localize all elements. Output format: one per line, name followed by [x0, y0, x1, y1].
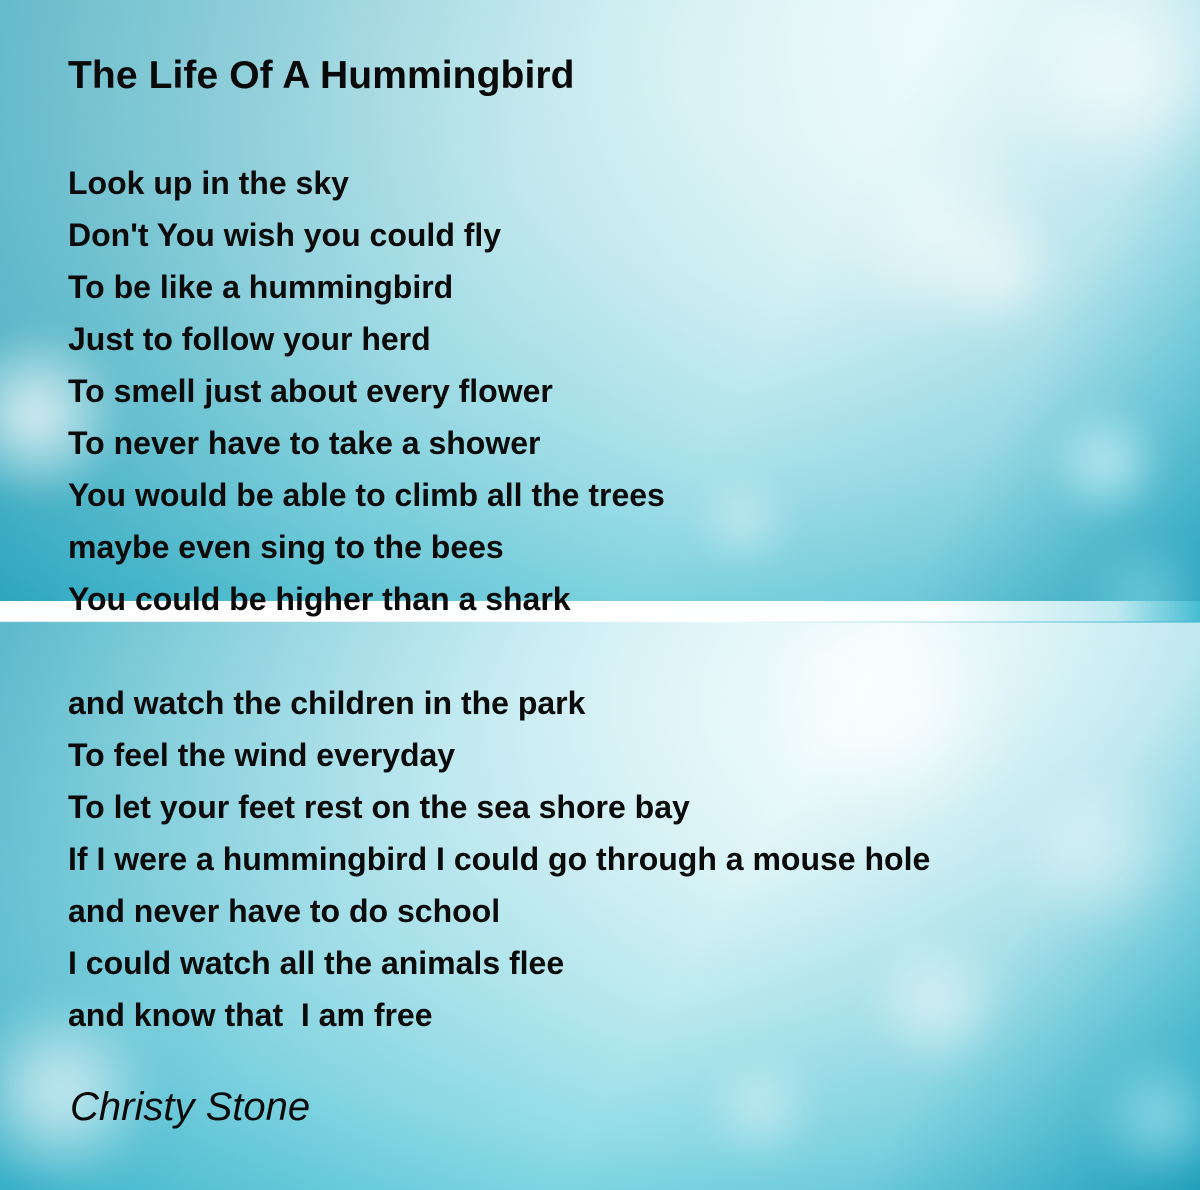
poem-line: You could be higher than a shark: [68, 573, 665, 625]
page-title: The Life Of A Hummingbird: [68, 54, 575, 98]
poem-line: Don't You wish you could fly: [68, 209, 665, 261]
poem-line: To never have to take a shower: [68, 417, 665, 469]
poem-line: To let your feet rest on the sea shore b…: [68, 781, 930, 833]
poem-line: Just to follow your herd: [68, 313, 665, 365]
poem-line: and never have to do school: [68, 885, 930, 937]
poem-line: If I were a hummingbird I could go throu…: [68, 833, 930, 885]
poem-line: To feel the wind everyday: [68, 729, 930, 781]
poem-line: You would be able to climb all the trees: [68, 469, 665, 521]
poem-line: maybe even sing to the bees: [68, 521, 665, 573]
poem-content: The Life Of A Hummingbird Look up in the…: [0, 0, 1200, 1190]
poem-line: To be like a hummingbird: [68, 261, 665, 313]
poem-stanza-2: and watch the children in the park To fe…: [68, 677, 930, 1041]
poem-line: To smell just about every flower: [68, 365, 665, 417]
poem-line: and know that I am free: [68, 989, 930, 1041]
poem-line: Look up in the sky: [68, 157, 665, 209]
poem-line: and watch the children in the park: [68, 677, 930, 729]
poem-card: The Life Of A Hummingbird Look up in the…: [0, 0, 1200, 1190]
author-name: Christy Stone: [70, 1085, 310, 1130]
poem-stanza-1: Look up in the sky Don't You wish you co…: [68, 157, 665, 625]
poem-line: I could watch all the animals flee: [68, 937, 930, 989]
